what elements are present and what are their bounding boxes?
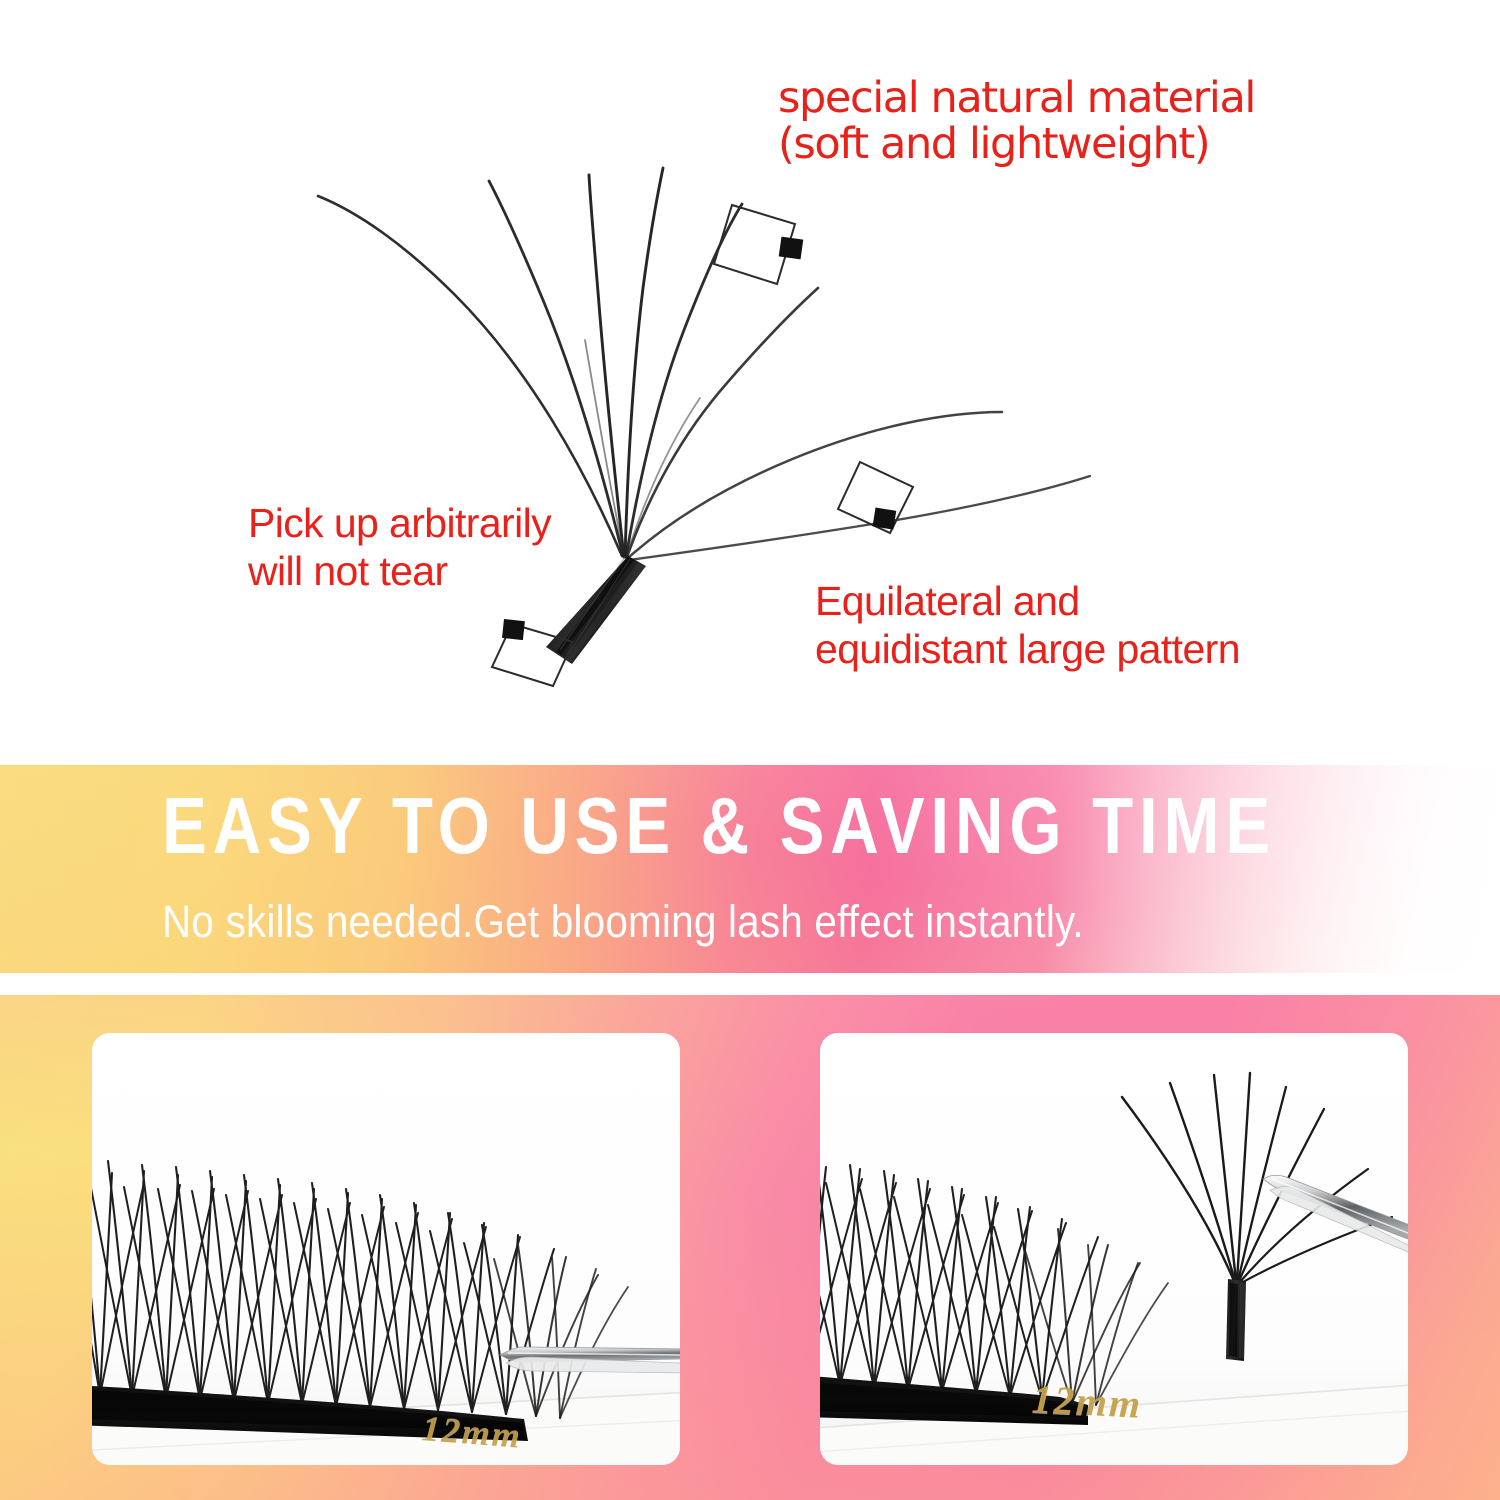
- callout-pickup: Pick up arbitrarilywill not tear: [248, 500, 551, 595]
- callout-pickup-line1: Pick up arbitrarily: [248, 500, 551, 546]
- product-photo-row: 12mm: [0, 995, 1500, 1500]
- photo-tray-with-tweezers: [92, 1033, 680, 1465]
- lash-glue-base: [546, 556, 646, 664]
- callout-material-line1: special natural material: [778, 73, 1255, 123]
- easy-to-use-banner: EASY TO USE & SAVING TIME No skills need…: [0, 765, 1500, 973]
- callout-material: special natural material(soft and lightw…: [778, 76, 1255, 167]
- callout-pattern: Equilateral andequidistant large pattern: [815, 578, 1240, 673]
- callout-pattern-line2: equidistant large pattern: [815, 626, 1240, 672]
- measurement-marker-upper: [714, 205, 803, 284]
- photo-card-fan-lifted: 12mm: [820, 1033, 1408, 1465]
- hero-section: special natural material(soft and lightw…: [0, 0, 1500, 765]
- photo-card-tray-with-tweezers: 12mm: [92, 1033, 680, 1465]
- callout-pattern-line1: Equilateral and: [815, 578, 1080, 624]
- callout-material-line2: (soft and lightweight): [778, 119, 1209, 169]
- banner-subhead: No skills needed.Get blooming lash effec…: [162, 896, 1084, 948]
- banner-headline: EASY TO USE & SAVING TIME: [162, 785, 1276, 867]
- measurement-marker-right: [838, 462, 913, 533]
- lash-fan-diagram: [0, 0, 1500, 765]
- photo-fan-lifted: [820, 1033, 1408, 1465]
- callout-pickup-line2: will not tear: [248, 548, 448, 594]
